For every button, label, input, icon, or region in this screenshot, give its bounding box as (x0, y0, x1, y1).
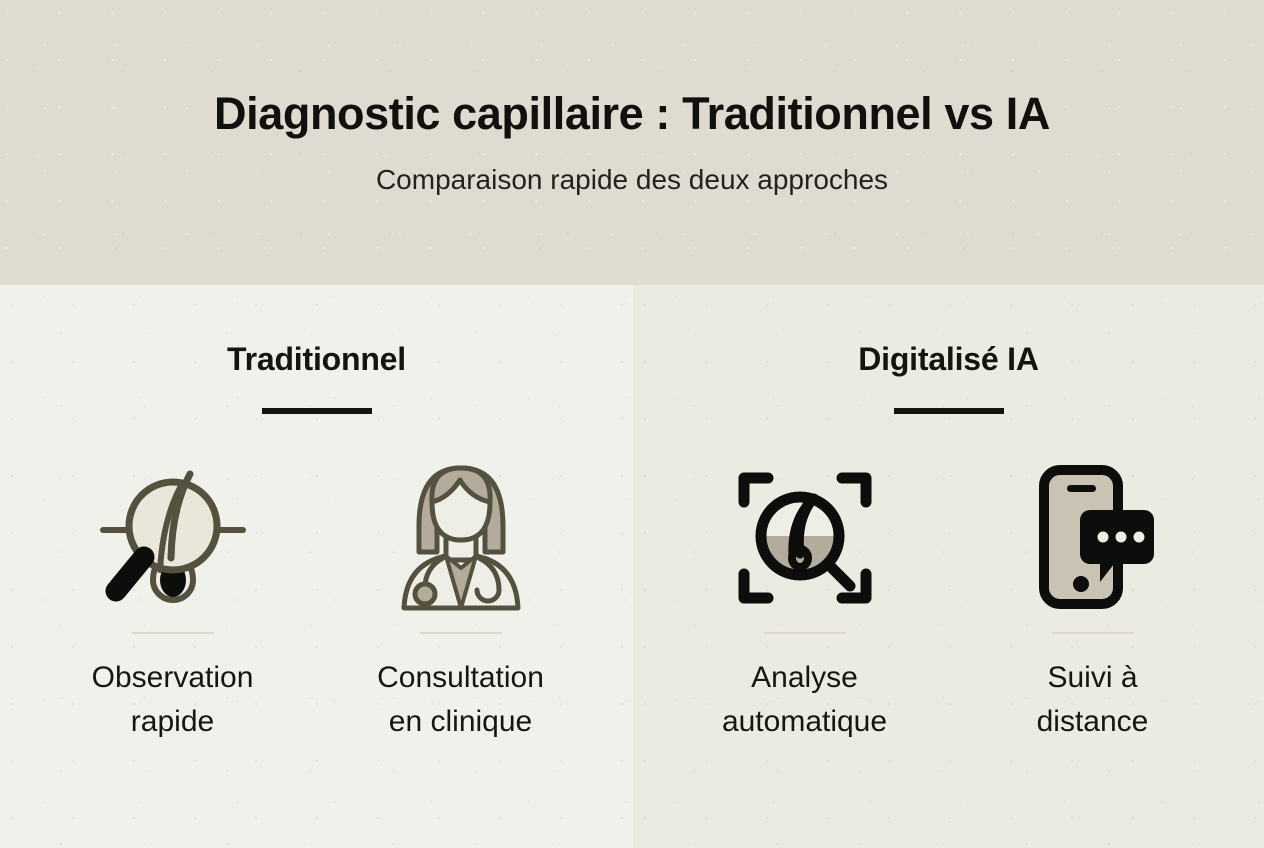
card-observation-rapide: Observation rapide (75, 458, 271, 744)
page-title: Diagnostic capillaire : Traditionnel vs … (214, 89, 1050, 139)
page-subtitle: Comparaison rapide des deux approches (376, 139, 888, 196)
magnifier-hair-follicle-icon (98, 458, 248, 618)
card-analyse-automatique: Analyse automatique (707, 458, 903, 744)
ai-scan-follicle-icon (730, 458, 880, 618)
card-label-consultation-clinique: Consultation en clinique (377, 634, 544, 744)
column-heading-digitalise-ia: Digitalisé IA (858, 285, 1039, 378)
card-label-suivi-distance: Suivi à distance (1037, 634, 1149, 744)
smartphone-chat-bubble-icon (1018, 458, 1168, 618)
column-heading-traditionnel: Traditionnel (227, 285, 406, 378)
header-band: Diagnostic capillaire : Traditionnel vs … (0, 0, 1264, 285)
card-group-traditionnel: Observation rapide (0, 414, 633, 744)
card-label-analyse-automatique: Analyse automatique (722, 634, 887, 744)
card-suivi-distance: Suivi à distance (995, 458, 1191, 744)
doctor-stethoscope-icon (386, 458, 536, 618)
column-digitalise-ia: Digitalisé IA (633, 285, 1264, 848)
card-label-observation-rapide: Observation rapide (92, 634, 254, 744)
infographic-canvas: Diagnostic capillaire : Traditionnel vs … (0, 0, 1264, 848)
column-traditionnel: Traditionnel (0, 285, 633, 848)
card-group-digitalise-ia: Analyse automatique (633, 414, 1264, 744)
card-consultation-clinique: Consultation en clinique (363, 458, 559, 744)
comparison-columns: Traditionnel (0, 285, 1264, 848)
